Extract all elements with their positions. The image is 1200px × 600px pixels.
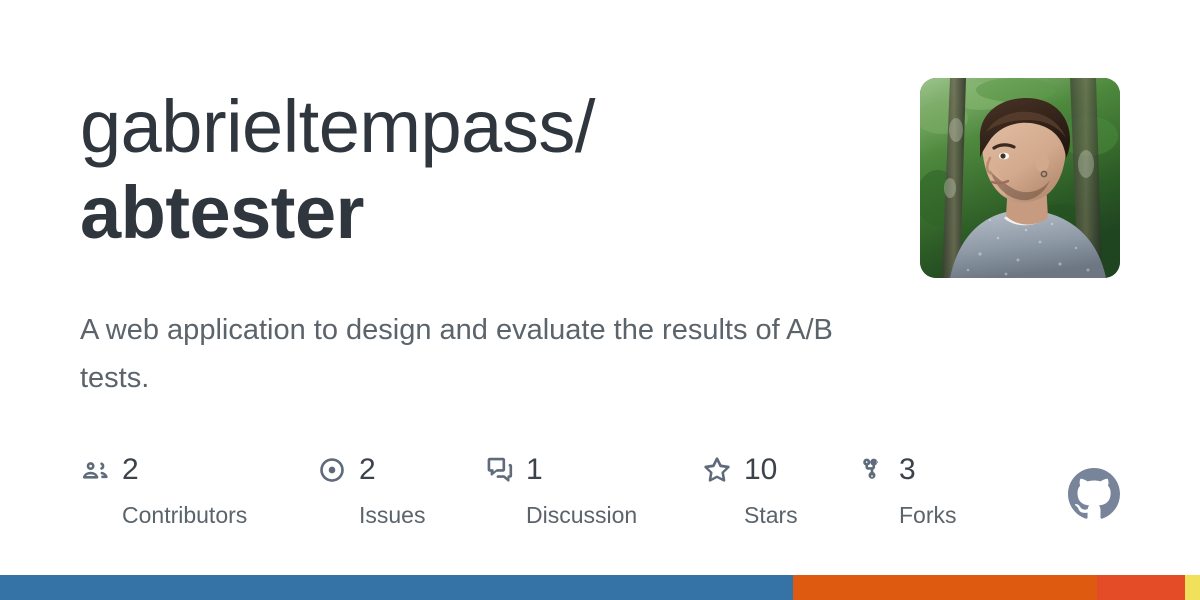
stat-issues[interactable]: 2 Issues — [317, 452, 425, 528]
language-segment-4 — [1185, 575, 1200, 600]
stat-forks-top: 3 — [857, 452, 957, 488]
stat-forks-label: Forks — [899, 502, 957, 528]
stat-discussion-count: 1 — [526, 455, 543, 485]
comment-discussion-icon — [484, 455, 514, 485]
star-icon — [702, 455, 732, 485]
language-segment-1 — [0, 575, 793, 600]
stat-stars-label: Stars — [744, 502, 798, 528]
stat-forks[interactable]: 3 Forks — [857, 452, 957, 528]
stat-contributors-label: Contributors — [122, 502, 247, 528]
stat-discussion-label: Discussion — [526, 502, 637, 528]
repo-name: abtester — [80, 170, 595, 256]
repo-stats: 2 Contributors 2 Issues — [80, 452, 1120, 538]
stat-stars-count: 10 — [744, 455, 777, 485]
stat-stars[interactable]: 10 Stars — [702, 452, 798, 528]
language-segment-3 — [1097, 575, 1185, 600]
stat-issues-label: Issues — [359, 502, 425, 528]
people-icon — [80, 455, 110, 485]
stat-contributors-count: 2 — [122, 455, 139, 485]
page-title: gabrieltempass/ abtester — [80, 84, 595, 256]
repo-forked-icon — [857, 455, 887, 485]
language-segment-2 — [793, 575, 1097, 600]
language-bar — [0, 575, 1200, 600]
stat-issues-count: 2 — [359, 455, 376, 485]
github-octocat-icon — [1068, 468, 1120, 520]
stat-discussion[interactable]: 1 Discussion — [484, 452, 637, 528]
repo-description: A web application to design and evaluate… — [80, 306, 880, 402]
stat-contributors-top: 2 — [80, 452, 247, 488]
stat-contributors[interactable]: 2 Contributors — [80, 452, 247, 528]
stat-issues-top: 2 — [317, 452, 425, 488]
avatar — [920, 78, 1120, 278]
card-header: gabrieltempass/ abtester — [80, 78, 1120, 278]
stat-stars-top: 10 — [702, 452, 798, 488]
stat-forks-count: 3 — [899, 455, 916, 485]
title-block: gabrieltempass/ abtester — [80, 78, 595, 256]
circle-dot-icon — [317, 455, 347, 485]
stat-discussion-top: 1 — [484, 452, 637, 488]
repo-social-preview-card: gabrieltempass/ abtester — [0, 0, 1200, 600]
repo-owner: gabrieltempass/ — [80, 84, 595, 170]
